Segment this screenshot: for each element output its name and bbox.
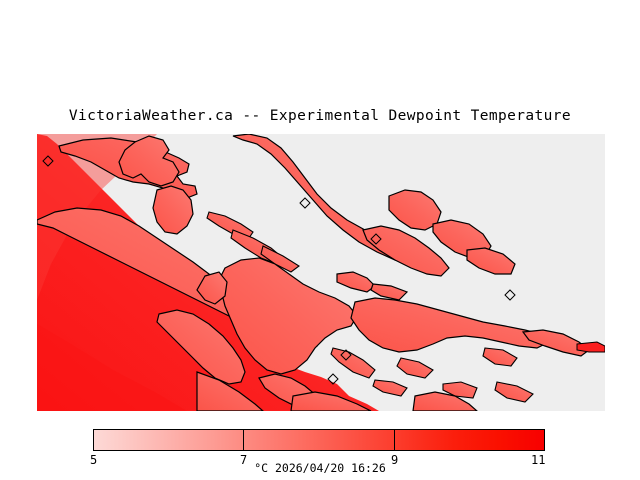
right-edge-channel: [577, 342, 605, 352]
colorbar-gradient: [94, 430, 544, 450]
map-plot-area: [37, 134, 605, 411]
colorbar-tick-9: [394, 429, 395, 451]
dewpoint-contour-map: [37, 134, 605, 411]
page-title: VictoriaWeather.ca -- Experimental Dewpo…: [0, 108, 640, 124]
colorbar-caption: °C 2026/04/20 16:26: [0, 461, 640, 475]
colorbar: [93, 429, 545, 451]
colorbar-tick-7: [243, 429, 244, 451]
